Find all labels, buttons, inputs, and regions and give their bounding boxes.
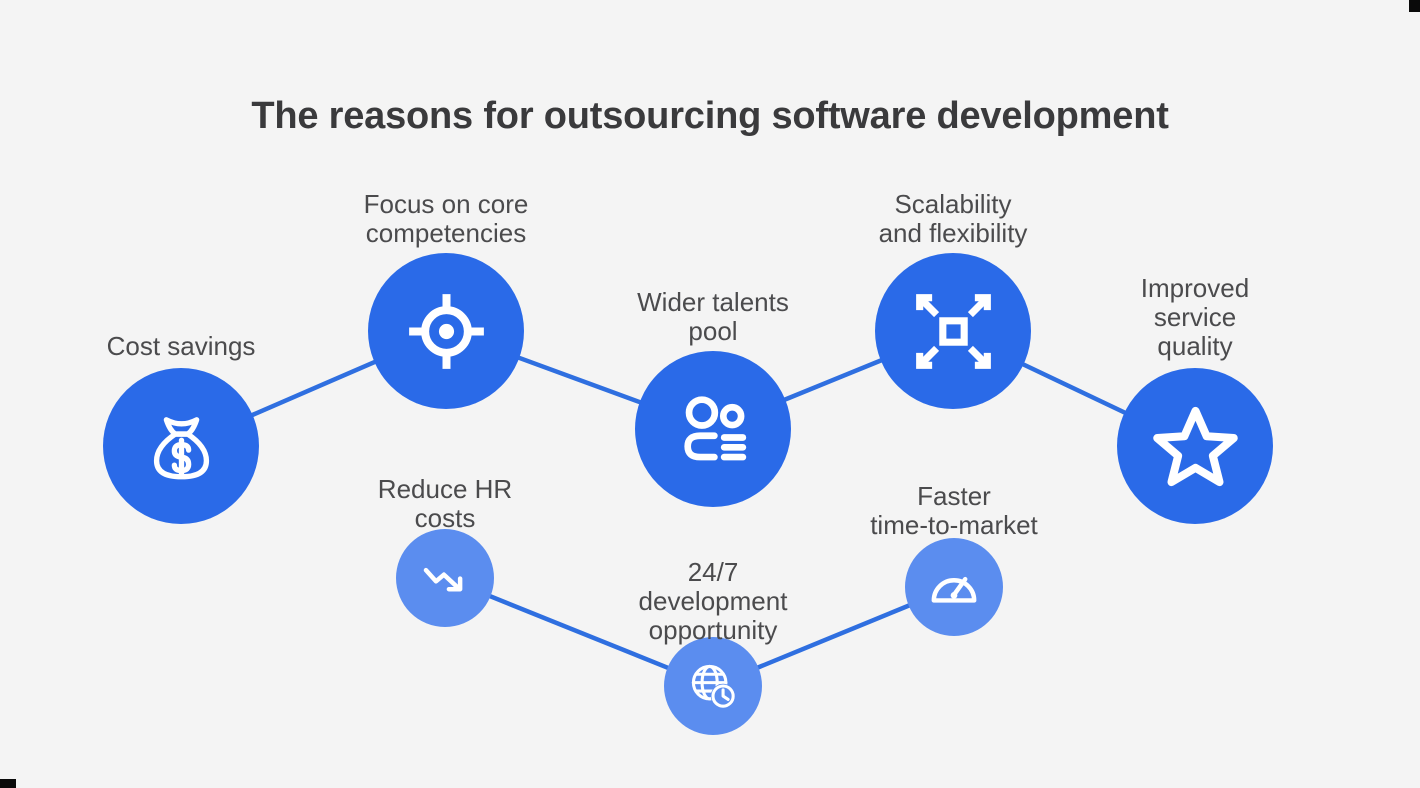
infographic-canvas: The reasons for outsourcing software dev… [0, 0, 1420, 788]
node-label-cost-savings: Cost savings [0, 332, 381, 361]
node-label-improved-service-quality: Improved service quality [995, 274, 1395, 361]
crosshair-target-icon [402, 287, 491, 376]
node-label-wider-talents-pool: Wider talents pool [513, 288, 913, 346]
people-group-icon [669, 385, 758, 474]
globe-clock-icon [685, 658, 741, 714]
edge-focus-to-talents [517, 357, 641, 403]
node-development-opportunity[interactable] [664, 637, 762, 735]
node-label-faster-time-to-market: Faster time-to-market [754, 482, 1154, 540]
expand-arrows-icon [909, 287, 998, 376]
trend-down-arrow-icon [417, 550, 473, 606]
node-cost-savings[interactable] [103, 368, 259, 524]
node-label-focus-core-competencies: Focus on core competencies [246, 190, 646, 248]
star-icon [1151, 402, 1240, 491]
edge-scalability-to-quality [1022, 364, 1127, 414]
edge-talents-to-scalability [783, 360, 882, 401]
edge-cost-to-focus [251, 361, 377, 415]
money-bag-icon [137, 402, 226, 491]
corner-artifact-top-right [1409, 0, 1420, 12]
page-title: The reasons for outsourcing software dev… [0, 95, 1420, 138]
node-faster-time-to-market[interactable] [905, 538, 1003, 636]
node-label-scalability-flexibility: Scalability and flexibility [753, 190, 1153, 248]
node-reduce-hr-costs[interactable] [396, 529, 494, 627]
speedometer-icon [926, 559, 982, 615]
corner-artifact-bottom-left [0, 779, 16, 788]
node-label-reduce-hr-costs: Reduce HR costs [245, 475, 645, 533]
node-label-development-opportunity: 24/7 development opportunity [513, 558, 913, 645]
node-focus-core-competencies[interactable] [368, 253, 524, 409]
